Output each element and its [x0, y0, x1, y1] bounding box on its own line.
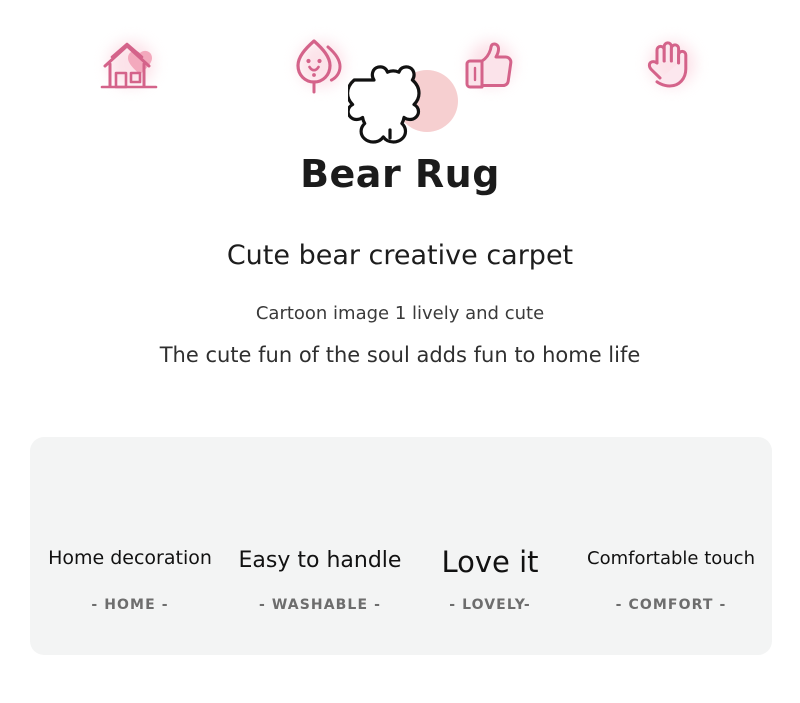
feature-item-lovely: Love it - LOVELY-	[410, 0, 570, 218]
feature-caption: - HOME -	[30, 597, 230, 613]
feature-item-home: Home decoration - HOME -	[30, 0, 230, 218]
feature-label: Easy to handle	[230, 549, 410, 574]
feature-item-washable: Easy to handle - WASHABLE -	[230, 0, 410, 218]
leaf-droplet-smiley-icon	[284, 33, 356, 99]
feature-label: Comfortable touch	[570, 549, 772, 569]
feature-caption: - COMFORT -	[570, 597, 772, 613]
feature-panel	[30, 437, 772, 655]
thumbs-up-icon	[454, 33, 526, 99]
feature-caption: - WASHABLE -	[230, 597, 410, 613]
house-with-heart-icon	[94, 33, 166, 99]
feature-item-comfort: Comfortable touch - COMFORT -	[570, 0, 772, 218]
feature-label: Home decoration	[30, 548, 230, 569]
feature-label: Love it	[410, 546, 570, 578]
hero-subline-1: Cartoon image 1 lively and cute	[0, 303, 800, 324]
hero-subline-2: The cute fun of the soul adds fun to hom…	[0, 343, 800, 367]
feature-caption: - LOVELY-	[410, 597, 570, 613]
hero-headline: Cute bear creative carpet	[0, 240, 800, 271]
open-hand-icon	[635, 33, 707, 99]
